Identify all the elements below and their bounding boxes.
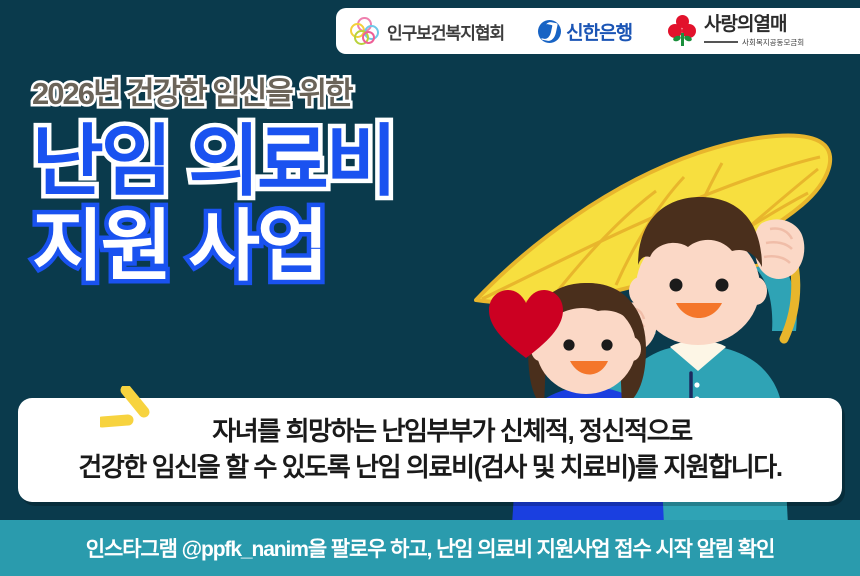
bottom-banner-text: 인스타그램 @ppfk_nanim을 팔로우 하고, 난임 의료비 지원사업 접… bbox=[86, 533, 774, 563]
headline-title-line-1: 난임 의료비 bbox=[32, 121, 394, 202]
divider-rule bbox=[704, 41, 738, 43]
overlapping-circles-icon bbox=[350, 17, 380, 45]
logo-community-chest-sublabel: 사회복지공동모금회 bbox=[742, 37, 804, 48]
sparkle-marks-icon bbox=[100, 386, 160, 438]
shinhan-swirl-icon bbox=[538, 20, 561, 43]
headline-subtitle: 2026년 건강한 임신을 위한 bbox=[32, 78, 394, 109]
logo-ppfk-label: 인구보건복지협회 bbox=[387, 19, 504, 44]
logo-shinhan-label: 신한은행 bbox=[566, 18, 632, 45]
bottom-banner: 인스타그램 @ppfk_nanim을 팔로우 하고, 난임 의료비 지원사업 접… bbox=[0, 520, 860, 576]
logo-community-chest-label: 사랑의열매 bbox=[704, 15, 804, 34]
poster-root: 2026년 건강한 임신을 위한 난임 의료비 지원 사업 자녀를 희망하는 난… bbox=[0, 0, 860, 576]
logo-shinhan: 신한은행 bbox=[538, 8, 632, 54]
description-line-2: 건강한 임신을 할 수 있도록 난임 의료비(검사 및 치료비)를 지원합니다. bbox=[78, 450, 781, 486]
heart-icon bbox=[487, 288, 565, 360]
sponsor-logo-bar: 인구보건복지협회 신한은행 사랑의열매 사회복지공동모금회 bbox=[336, 8, 860, 54]
description-line-1: 자녀를 희망하는 난임부부가 신체적, 정신적으로 bbox=[168, 414, 692, 450]
headline-block: 2026년 건강한 임신을 위한 난임 의료비 지원 사업 bbox=[32, 78, 394, 287]
headline-title-line-2: 지원 사업 bbox=[32, 206, 394, 287]
man-right-hand bbox=[754, 219, 804, 279]
logo-community-chest: 사랑의열매 사회복지공동모금회 bbox=[668, 8, 804, 54]
logo-ppfk: 인구보건복지협회 bbox=[350, 8, 504, 54]
red-berries-icon bbox=[668, 15, 698, 47]
